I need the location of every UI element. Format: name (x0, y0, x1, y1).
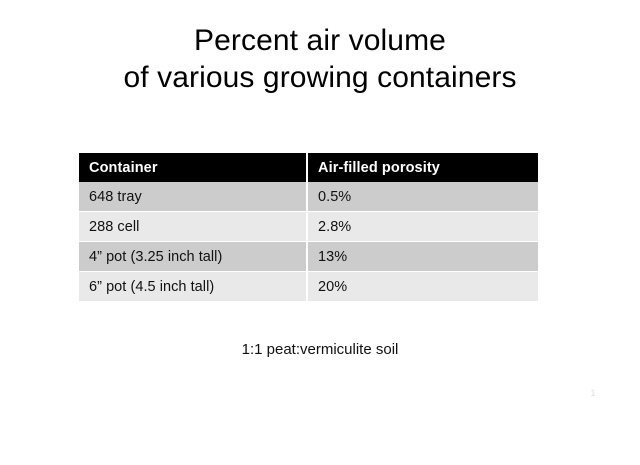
cell-porosity: 13% (308, 242, 538, 272)
cell-container: 288 cell (79, 212, 308, 242)
slide-number: 1 (586, 388, 600, 398)
table-header-row: Container Air-filled porosity (79, 153, 538, 182)
table-row: 648 tray 0.5% (79, 182, 538, 212)
column-header-porosity: Air-filled porosity (308, 153, 538, 182)
soil-caption: 1:1 peat:vermiculite soil (0, 341, 640, 358)
cell-porosity: 20% (308, 272, 538, 302)
table-row: 4” pot (3.25 inch tall) 13% (79, 242, 538, 272)
cell-container: 4” pot (3.25 inch tall) (79, 242, 308, 272)
cell-container: 648 tray (79, 182, 308, 212)
page-title: Percent air volume of various growing co… (0, 22, 640, 96)
title-line-1: Percent air volume (0, 22, 640, 59)
cell-porosity: 0.5% (308, 182, 538, 212)
cell-container: 6” pot (4.5 inch tall) (79, 272, 308, 302)
column-header-container: Container (79, 153, 308, 182)
slide: Percent air volume of various growing co… (0, 0, 640, 465)
porosity-table: Container Air-filled porosity 648 tray 0… (79, 153, 538, 302)
table-row: 288 cell 2.8% (79, 212, 538, 242)
cell-porosity: 2.8% (308, 212, 538, 242)
table-row: 6” pot (4.5 inch tall) 20% (79, 272, 538, 302)
title-line-2: of various growing containers (0, 59, 640, 96)
